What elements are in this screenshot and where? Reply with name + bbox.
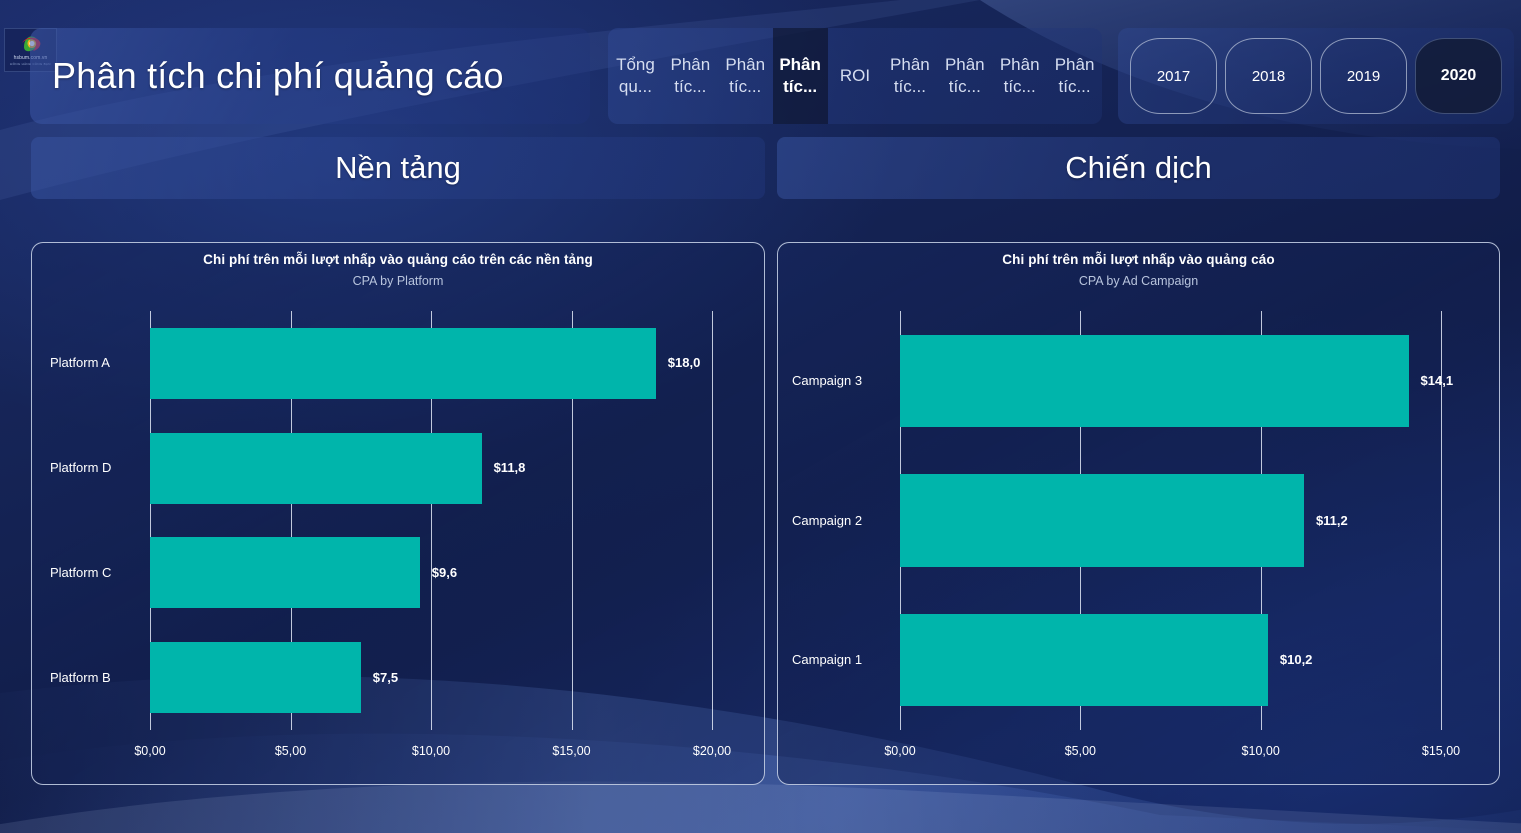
year-label: 2020: [1441, 67, 1477, 85]
chart-subtitle-platform: CPA by Platform: [32, 274, 764, 288]
year-button-2018[interactable]: 2018: [1225, 38, 1312, 114]
chart-plot-campaign: $14,1Campaign 3$11,2Campaign 2$10,2Campa…: [778, 305, 1499, 785]
category-label: Campaign 3: [792, 373, 884, 388]
bar-value-label: $11,2: [1316, 513, 1348, 528]
year-label: 2017: [1157, 68, 1190, 85]
tab-item-3[interactable]: Phân tíc...: [773, 28, 828, 124]
tab-label: Phân tíc...: [884, 54, 935, 99]
section-label-platform: Nền tảng: [335, 150, 461, 186]
year-button-2020[interactable]: 2020: [1415, 38, 1502, 114]
tab-item-4[interactable]: ROI: [828, 28, 883, 124]
tab-label: Phân tíc...: [1049, 54, 1100, 99]
x-tick-label: $15,00: [552, 744, 590, 758]
bar-row[interactable]: [900, 474, 1441, 566]
chart-plot-platform: $18,0Platform A$11,8Platform D$9,6Platfo…: [32, 305, 764, 785]
bar-value-label: $18,0: [668, 355, 701, 370]
dashboard-root: hsbum.com.vn ĐỒNG HÀNH CÙNG BẠN Phân tíc…: [0, 0, 1521, 833]
year-button-2019[interactable]: 2019: [1320, 38, 1407, 114]
top-bar: hsbum.com.vn ĐỒNG HÀNH CÙNG BẠN Phân tíc…: [0, 0, 1521, 130]
year-label: 2019: [1347, 68, 1380, 85]
tab-item-0[interactable]: Tổng qu...: [608, 28, 663, 124]
bar-campaign-1[interactable]: [900, 614, 1268, 706]
x-tick-label: $5,00: [275, 744, 306, 758]
bar-value-label: $11,8: [494, 460, 526, 475]
tab-label: Tổng qu...: [610, 54, 661, 99]
tab-label: ROI: [840, 65, 870, 87]
tab-item-8[interactable]: Phân tíc...: [1047, 28, 1102, 124]
chart-subtitle-campaign: CPA by Ad Campaign: [778, 274, 1499, 288]
tab-label: Phân tíc...: [994, 54, 1045, 99]
tab-item-5[interactable]: Phân tíc...: [882, 28, 937, 124]
tab-label: Phân tíc...: [939, 54, 990, 99]
category-label: Campaign 1: [792, 652, 884, 667]
bar-value-label: $7,5: [373, 670, 398, 685]
tab-item-6[interactable]: Phân tíc...: [937, 28, 992, 124]
page-title-card: Phân tích chi phí quảng cáo: [30, 28, 590, 124]
tab-item-2[interactable]: Phân tíc...: [718, 28, 773, 124]
page-title: Phân tích chi phí quảng cáo: [52, 55, 504, 97]
tab-navigation[interactable]: Tổng qu...Phân tíc...Phân tíc...Phân tíc…: [608, 28, 1102, 124]
bar-value-label: $14,1: [1421, 373, 1454, 388]
bar-row[interactable]: [900, 335, 1441, 427]
tab-label: Phân tíc...: [665, 54, 716, 99]
x-tick-label: $5,00: [1065, 744, 1096, 758]
section-header-campaign: Chiến dịch: [777, 137, 1500, 199]
bar-row[interactable]: [150, 433, 712, 504]
bar-row[interactable]: [150, 328, 712, 399]
chart-panel-campaign: Chi phí trên mỗi lượt nhấp vào quảng cáo…: [777, 242, 1500, 785]
x-tick-label: $10,00: [412, 744, 450, 758]
year-button-2017[interactable]: 2017: [1130, 38, 1217, 114]
x-tick-label: $0,00: [884, 744, 915, 758]
bar-campaign-2[interactable]: [900, 474, 1304, 566]
bar-platform-a[interactable]: [150, 328, 656, 399]
tab-label: Phân tíc...: [775, 54, 826, 99]
x-tick-label: $15,00: [1422, 744, 1460, 758]
section-header-platform: Nền tảng: [31, 137, 765, 199]
bar-row[interactable]: [150, 642, 712, 713]
bar-value-label: $9,6: [432, 565, 457, 580]
bar-row[interactable]: [900, 614, 1441, 706]
bar-platform-d[interactable]: [150, 433, 482, 504]
chart-panel-platform: Chi phí trên mỗi lượt nhấp vào quảng cáo…: [31, 242, 765, 785]
bar-value-label: $10,2: [1280, 652, 1313, 667]
category-label: Platform C: [50, 565, 140, 580]
category-label: Platform D: [50, 460, 140, 475]
chart-title-platform: Chi phí trên mỗi lượt nhấp vào quảng cáo…: [32, 252, 764, 267]
bar-platform-b[interactable]: [150, 642, 361, 713]
tab-item-1[interactable]: Phân tíc...: [663, 28, 718, 124]
chart-title-campaign: Chi phí trên mỗi lượt nhấp vào quảng cáo: [778, 252, 1499, 267]
bar-platform-c[interactable]: [150, 537, 420, 608]
section-header-row: Nền tảng Chiến dịch: [0, 137, 1521, 199]
category-label: Platform A: [50, 355, 140, 370]
gridline-4: [712, 311, 713, 730]
section-label-campaign: Chiến dịch: [1065, 150, 1211, 186]
x-tick-label: $10,00: [1242, 744, 1280, 758]
category-label: Campaign 2: [792, 513, 884, 528]
bar-campaign-3[interactable]: [900, 335, 1409, 427]
x-tick-label: $20,00: [693, 744, 731, 758]
year-label: 2018: [1252, 68, 1285, 85]
category-label: Platform B: [50, 670, 140, 685]
year-filter-group[interactable]: 2017201820192020: [1118, 28, 1514, 124]
tab-label: Phân tíc...: [720, 54, 771, 99]
tab-item-7[interactable]: Phân tíc...: [992, 28, 1047, 124]
x-tick-label: $0,00: [134, 744, 165, 758]
